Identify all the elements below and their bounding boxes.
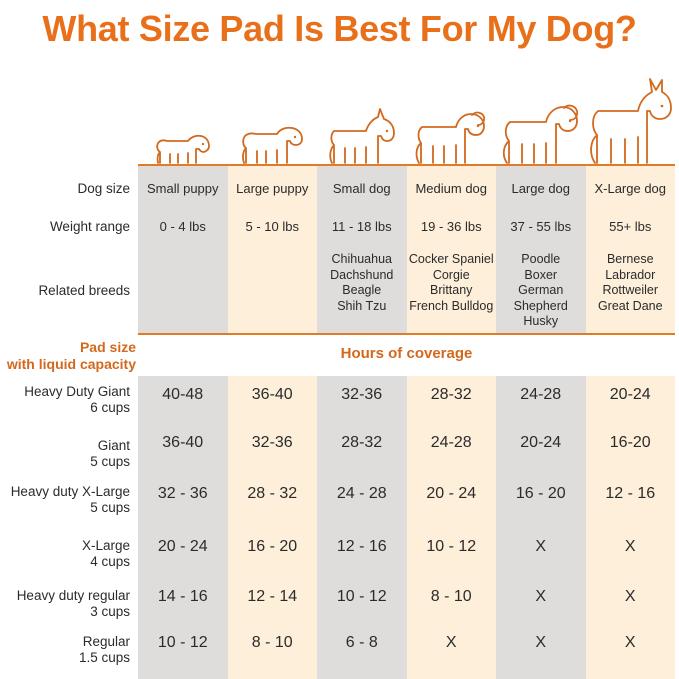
coverage-cell: 36-40	[228, 386, 318, 404]
large-puppy-silhouette	[228, 76, 318, 165]
coverage-cell: 10 - 12	[407, 538, 497, 556]
coverage-cell: 32-36	[228, 434, 318, 452]
coverage-cell-unavailable: X	[496, 588, 586, 606]
pad-row-name: Heavy duty X-Large	[0, 484, 130, 500]
breed-item: Dachshund	[317, 268, 407, 284]
coverage-cell-unavailable: X	[496, 538, 586, 556]
weight-range-cell-1: 0 - 4 lbs	[138, 219, 228, 235]
pad-row-name: Regular	[0, 634, 130, 650]
small-dog-silhouette	[317, 76, 407, 165]
coverage-cell: 24 - 28	[317, 485, 407, 503]
pad-row-label: X-Large4 cups	[0, 538, 130, 570]
related-breeds-cell-5: PoodleBoxerGermanShepherdHusky	[496, 252, 586, 330]
dog-silhouette-row	[138, 76, 675, 165]
coverage-cell: 10 - 12	[138, 634, 228, 652]
pad-row-capacity: 5 cups	[0, 454, 130, 470]
dog-size-row: Small puppy Large puppy Small dog Medium…	[138, 181, 675, 197]
pad-row-values: 20 - 2416 - 2012 - 1610 - 12XX	[138, 538, 675, 556]
breed-item: Rottweiler	[586, 283, 676, 299]
pad-row-capacity: 4 cups	[0, 554, 130, 570]
weight-range-cell-2: 5 - 10 lbs	[228, 219, 318, 235]
small-puppy-silhouette	[138, 76, 228, 165]
pad-row-label: Heavy duty X-Large5 cups	[0, 484, 130, 516]
row-label-related-breeds: Related breeds	[0, 283, 130, 299]
dog-size-cell-4: Medium dog	[407, 181, 497, 197]
pad-row-values: 40-4836-4032-3628-3224-2820-24	[138, 386, 675, 404]
related-breeds-cell-6: BerneseLabradorRottweilerGreat Dane	[586, 252, 676, 330]
dog-size-cell-2: Large puppy	[228, 181, 318, 197]
weight-range-cell-4: 19 - 36 lbs	[407, 219, 497, 235]
breed-item: French Bulldog	[407, 299, 497, 315]
coverage-cell: 10 - 12	[317, 588, 407, 606]
coverage-cell: 20-24	[496, 434, 586, 452]
breed-item: Shih Tzu	[317, 299, 407, 315]
pad-row-name: Heavy duty regular	[0, 588, 130, 604]
coverage-cell-unavailable: X	[496, 634, 586, 652]
weight-range-row: 0 - 4 lbs 5 - 10 lbs 11 - 18 lbs 19 - 36…	[138, 219, 675, 235]
large-dog-silhouette	[496, 76, 586, 165]
breed-item: Corgie	[407, 268, 497, 284]
coverage-cell: 28 - 32	[228, 485, 318, 503]
breed-item: Cocker Spaniel	[407, 252, 497, 268]
row-label-dog-size: Dog size	[0, 181, 130, 197]
related-breeds-cell-4: Cocker SpanielCorgieBrittanyFrench Bulld…	[407, 252, 497, 330]
coverage-cell: 12 - 16	[317, 538, 407, 556]
section-divider-line	[138, 333, 675, 335]
pad-size-line-2: with liquid capacity	[0, 356, 136, 373]
pad-row-capacity: 6 cups	[0, 400, 130, 416]
weight-range-cell-3: 11 - 18 lbs	[317, 219, 407, 235]
coverage-cell: 20-24	[586, 386, 676, 404]
breed-item: Brittany	[407, 283, 497, 299]
breed-item: Labrador	[586, 268, 676, 284]
pad-row-values: 10 - 128 - 106 - 8XXX	[138, 634, 675, 652]
coverage-cell: 20 - 24	[138, 538, 228, 556]
coverage-cell: 28-32	[407, 386, 497, 404]
pad-size-line-1: Pad size	[0, 339, 136, 356]
coverage-cell: 8 - 10	[228, 634, 318, 652]
dog-size-cell-3: Small dog	[317, 181, 407, 197]
breed-item: Shepherd	[496, 299, 586, 315]
row-label-weight-range: Weight range	[0, 219, 130, 235]
related-breeds-cell-2	[228, 252, 318, 330]
xlarge-dog-silhouette	[586, 76, 676, 165]
breed-item: German	[496, 283, 586, 299]
pad-row-capacity: 5 cups	[0, 500, 130, 516]
dog-size-cell-1: Small puppy	[138, 181, 228, 197]
dog-size-cell-6: X-Large dog	[586, 181, 676, 197]
breed-item: Bernese	[586, 252, 676, 268]
pad-row-capacity: 3 cups	[0, 604, 130, 620]
coverage-cell-unavailable: X	[586, 588, 676, 606]
pad-row-label: Giant5 cups	[0, 438, 130, 470]
coverage-cell: 28-32	[317, 434, 407, 452]
related-breeds-row: ChihuahuaDachshundBeagleShih Tzu Cocker …	[138, 252, 675, 330]
medium-dog-silhouette	[407, 76, 497, 165]
coverage-cell: 32 - 36	[138, 485, 228, 503]
pad-row-label: Heavy Duty Giant6 cups	[0, 384, 130, 416]
coverage-cell-unavailable: X	[586, 634, 676, 652]
pad-row-values: 36-4032-3628-3224-2820-2416-20	[138, 434, 675, 452]
coverage-cell: 20 - 24	[407, 485, 497, 503]
breed-item: Poodle	[496, 252, 586, 268]
coverage-cell: 40-48	[138, 386, 228, 404]
weight-range-cell-6: 55+ lbs	[586, 219, 676, 235]
breed-item: Husky	[496, 314, 586, 330]
coverage-cell: 12 - 16	[586, 485, 676, 503]
pad-row-values: 32 - 3628 - 3224 - 2820 - 2416 - 2012 - …	[138, 485, 675, 503]
breed-item: Great Dane	[586, 299, 676, 315]
coverage-cell: 8 - 10	[407, 588, 497, 606]
pad-row-name: X-Large	[0, 538, 130, 554]
coverage-cell-unavailable: X	[407, 634, 497, 652]
pad-row-name: Heavy Duty Giant	[0, 384, 130, 400]
pad-row-values: 14 - 1612 - 1410 - 128 - 10XX	[138, 588, 675, 606]
coverage-cell: 16-20	[586, 434, 676, 452]
related-breeds-cell-3: ChihuahuaDachshundBeagleShih Tzu	[317, 252, 407, 330]
coverage-cell: 32-36	[317, 386, 407, 404]
hours-of-coverage-header: Hours of coverage	[138, 345, 675, 362]
related-breeds-cell-1	[138, 252, 228, 330]
pad-row-name: Giant	[0, 438, 130, 454]
coverage-cell: 12 - 14	[228, 588, 318, 606]
coverage-cell: 24-28	[407, 434, 497, 452]
pad-row-capacity: 1.5 cups	[0, 650, 130, 666]
breed-item: Boxer	[496, 268, 586, 284]
coverage-cell: 16 - 20	[228, 538, 318, 556]
coverage-cell: 16 - 20	[496, 485, 586, 503]
page-title: What Size Pad Is Best For My Dog?	[0, 0, 679, 62]
pad-row-label: Regular1.5 cups	[0, 634, 130, 666]
coverage-cell-unavailable: X	[586, 538, 676, 556]
pad-row-label: Heavy duty regular3 cups	[0, 588, 130, 620]
row-label-pad-size: Pad size with liquid capacity	[0, 339, 136, 373]
breed-item: Chihuahua	[317, 252, 407, 268]
dog-size-cell-5: Large dog	[496, 181, 586, 197]
weight-range-cell-5: 37 - 55 lbs	[496, 219, 586, 235]
coverage-cell: 14 - 16	[138, 588, 228, 606]
coverage-cell: 24-28	[496, 386, 586, 404]
coverage-cell: 6 - 8	[317, 634, 407, 652]
breed-item: Beagle	[317, 283, 407, 299]
coverage-cell: 36-40	[138, 434, 228, 452]
